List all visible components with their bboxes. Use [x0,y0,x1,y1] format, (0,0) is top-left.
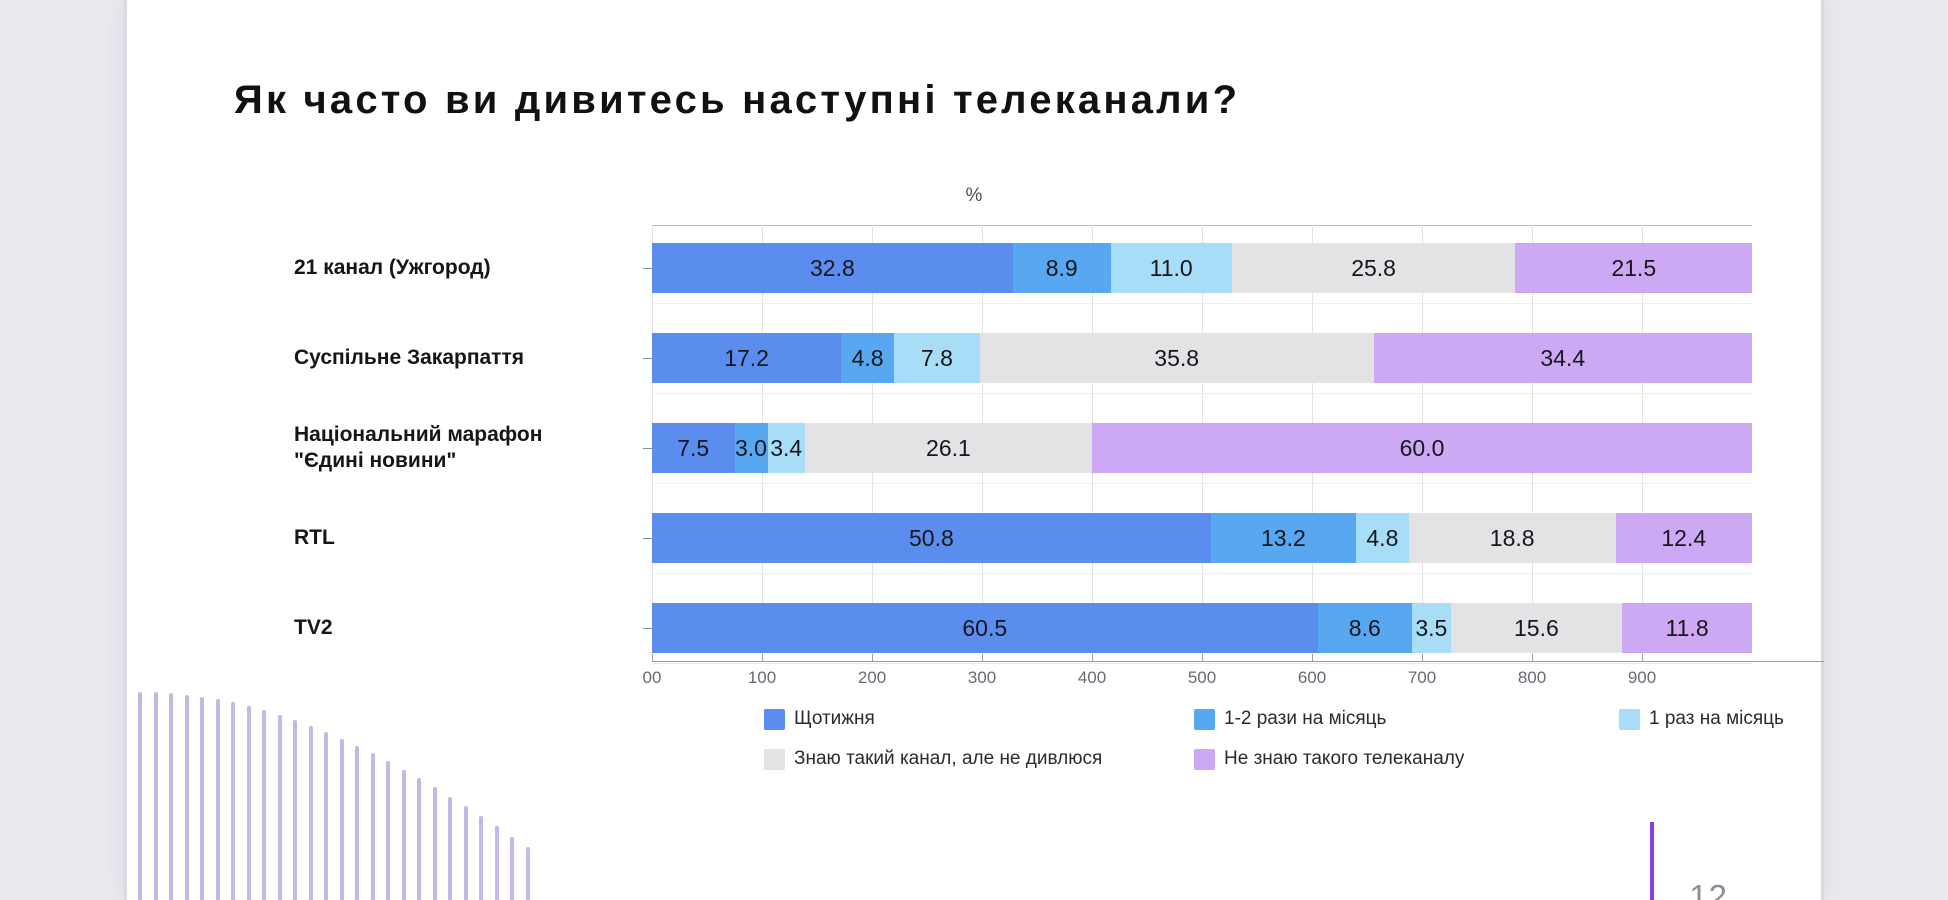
slide-page: Як часто ви дивитесь наступні телеканали… [124,0,1824,900]
decorative-line [355,746,359,900]
bar-segment[interactable]: 60.0 [1092,423,1752,473]
decorative-line [154,692,158,900]
decorative-line [464,806,468,900]
x-axis-tick-label: 600 [1298,668,1326,688]
bar-row[interactable]: 50.813.24.818.812.4 [652,513,1752,563]
decorative-line [448,797,452,900]
y-axis-tick [643,628,652,629]
bar-segment-value: 7.5 [677,435,709,462]
x-axis-tick-label: 200 [858,668,886,688]
decorative-line [309,726,313,900]
x-axis-tick [652,654,653,662]
bar-segment-value: 17.2 [724,345,769,372]
bar-segment-value: 15.6 [1514,615,1559,642]
x-axis-tick [982,654,983,662]
x-axis-tick [1202,654,1203,662]
category-label-line: Національний марафон [294,422,644,448]
legend-label: Знаю такий канал, але не дивлюся [794,748,1102,770]
bar-segment-value: 3.5 [1415,615,1447,642]
x-axis-tick [762,654,763,662]
decorative-line [526,847,530,900]
legend-swatch [1194,709,1215,730]
bar-segment[interactable]: 21.5 [1515,243,1752,293]
bar-segment[interactable]: 4.8 [1356,513,1409,563]
decorative-line-arc [132,674,562,900]
decorative-line [324,732,328,900]
bar-segment-value: 21.5 [1611,255,1656,282]
bar-row[interactable]: 32.88.911.025.821.5 [652,243,1752,293]
decorative-line [495,826,499,900]
row-separator [652,303,1752,304]
x-axis-tick-label: 700 [1408,668,1436,688]
decorative-line [510,837,514,900]
bar-segment[interactable]: 7.8 [894,333,980,383]
decorative-line [278,715,282,900]
row-separator [652,393,1752,394]
decorative-line [479,816,483,900]
y-axis-category-label: 21 канал (Ужгород) [294,255,644,281]
decorative-line [386,761,390,900]
bar-segment-value: 26.1 [926,435,971,462]
decorative-line [169,693,173,900]
legend-swatch [1619,709,1640,730]
bar-segment[interactable]: 34.4 [1374,333,1752,383]
row-separator [652,573,1752,574]
decorative-line [371,753,375,900]
bar-segment[interactable]: 15.6 [1451,603,1623,653]
category-label-line: TV2 [294,615,644,641]
bar-segment-value: 11.8 [1666,615,1709,642]
bar-segment[interactable]: 18.8 [1409,513,1616,563]
y-axis-tick [643,538,652,539]
decorative-line [247,706,251,900]
x-axis-tick-label: 900 [1628,668,1656,688]
bar-segment[interactable]: 32.8 [652,243,1013,293]
decorative-line [216,699,220,900]
legend-swatch [764,749,785,770]
legend-label: Щотижня [794,708,875,730]
bar-segment-value: 60.0 [1400,435,1445,462]
decorative-line [293,720,297,900]
bar-segment-value: 4.8 [852,345,884,372]
bar-segment[interactable]: 3.5 [1412,603,1451,653]
decorative-line [417,778,421,900]
x-axis-line [652,661,1824,662]
bar-segment-value: 35.8 [1154,345,1199,372]
legend-label: 1 раз на місяць [1649,708,1784,730]
bar-segment-value: 32.8 [810,255,855,282]
bar-segment-value: 34.4 [1540,345,1585,372]
page-number: 12 [1689,878,1728,900]
bar-segment[interactable]: 60.5 [652,603,1318,653]
bar-segment[interactable]: 11.8 [1622,603,1752,653]
bar-segment-value: 3.0 [735,435,767,462]
bar-segment[interactable]: 17.2 [652,333,841,383]
decorative-line [433,787,437,900]
bar-segment[interactable]: 35.8 [980,333,1374,383]
bar-segment[interactable]: 3.0 [735,423,768,473]
legend-label: 1-2 рази на місяць [1224,708,1386,730]
y-axis-category-label: Національний марафон"Єдині новини" [294,422,644,473]
screenshot-root: Як часто ви дивитесь наступні телеканали… [0,0,1948,900]
decorative-line [402,770,406,900]
legend-item[interactable]: Щотижня [764,708,875,730]
footer-accent-bar [1650,822,1654,900]
bar-segment[interactable]: 8.6 [1318,603,1413,653]
legend-row: Знаю такий канал, але не дивлюсяНе знаю … [764,748,1804,788]
y-axis-category-label: RTL [294,525,644,551]
x-axis-tick [1422,654,1423,662]
bar-segment-value: 8.6 [1349,615,1381,642]
row-separator [652,483,1752,484]
x-axis-tick [1532,654,1533,662]
bar-segment[interactable]: 25.8 [1232,243,1516,293]
bar-segment[interactable]: 50.8 [652,513,1211,563]
x-axis-tick [1092,654,1093,662]
bar-segment-value: 12.4 [1661,525,1706,552]
bar-segment[interactable]: 3.4 [768,423,805,473]
bar-segment[interactable]: 8.9 [1013,243,1111,293]
x-axis-tick-label: 100 [748,668,776,688]
bar-segment[interactable]: 4.8 [841,333,894,383]
x-axis-tick-labels: 00100200300400500600700800900 [652,668,1824,698]
legend-item[interactable]: 1-2 рази на місяць [1194,708,1386,730]
row-separator [652,663,1752,664]
bar-segment-value: 60.5 [962,615,1007,642]
x-axis-tick-label: 300 [968,668,996,688]
bar-segment-value: 8.9 [1046,255,1078,282]
decorative-line [340,739,344,900]
legend-swatch [1194,749,1215,770]
plot-area: 32.88.911.025.821.517.24.87.835.834.47.5… [652,225,1824,662]
bar-row[interactable]: 17.24.87.835.834.4 [652,333,1752,383]
decorative-line [185,695,189,900]
y-axis-category-labels: 21 канал (Ужгород)Суспільне ЗакарпаттяНа… [294,225,644,665]
category-label-line: Суспільне Закарпаття [294,345,644,371]
category-label-line: RTL [294,525,644,551]
y-axis-category-label: Суспільне Закарпаття [294,345,644,371]
decorative-line [262,710,266,900]
x-axis-unit-label: % [124,185,1824,207]
decorative-line [138,692,142,900]
bar-segment-value: 13.2 [1261,525,1306,552]
bar-segment-value: 4.8 [1366,525,1398,552]
bar-segment-value: 7.8 [921,345,953,372]
legend-row: Щотижня1-2 рази на місяць1 раз на місяць [764,708,1804,748]
chart-legend: Щотижня1-2 рази на місяць1 раз на місяць… [764,708,1804,788]
bar-segment-value: 3.4 [770,435,802,462]
category-label-line: 21 канал (Ужгород) [294,255,644,281]
category-label-line: "Єдині новини" [294,448,644,474]
y-axis-category-label: TV2 [294,615,644,641]
x-axis-tick-label: 00 [643,668,662,688]
bar-segment-value: 50.8 [909,525,954,552]
bar-segment[interactable]: 7.5 [652,423,735,473]
y-axis-tick [643,358,652,359]
x-axis-tick [1642,654,1643,662]
bar-row[interactable]: 60.58.63.515.611.8 [652,603,1752,653]
x-axis-tick-label: 500 [1188,668,1216,688]
decorative-line [231,702,235,900]
bar-segment[interactable]: 11.0 [1111,243,1232,293]
x-axis-tick [872,654,873,662]
legend-label: Не знаю такого телеканалу [1224,748,1464,770]
legend-item[interactable]: Не знаю такого телеканалу [1194,748,1464,770]
x-axis-tick-label: 400 [1078,668,1106,688]
bar-segment[interactable]: 26.1 [805,423,1092,473]
bar-row[interactable]: 7.53.03.426.160.0 [652,423,1752,473]
bar-segment[interactable]: 12.4 [1616,513,1752,563]
decorative-line [200,697,204,900]
bar-segment-value: 18.8 [1490,525,1535,552]
legend-swatch [764,709,785,730]
bar-segment-value: 25.8 [1351,255,1396,282]
y-axis-tick [643,268,652,269]
y-axis-tick [643,448,652,449]
x-axis-tick-label: 800 [1518,668,1546,688]
legend-item[interactable]: 1 раз на місяць [1619,708,1784,730]
bar-segment[interactable]: 13.2 [1211,513,1356,563]
legend-item[interactable]: Знаю такий канал, але не дивлюся [764,748,1102,770]
bar-segment-value: 11.0 [1150,255,1193,282]
x-axis-tick [1312,654,1313,662]
